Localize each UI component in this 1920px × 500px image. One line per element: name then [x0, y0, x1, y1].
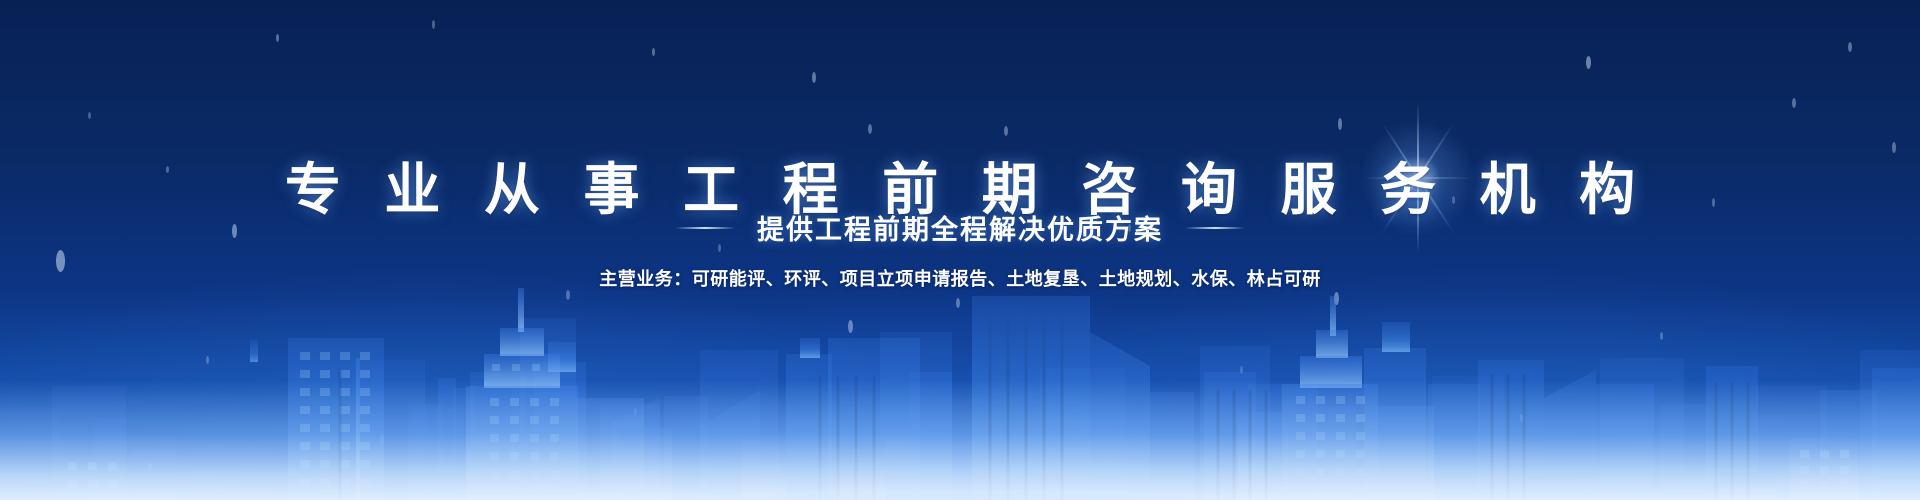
banner-content: 专 业 从 事 工 程 前 期 咨 询 服 务 机 构 提供工程前期全程解决优质…: [0, 0, 1920, 500]
promo-banner: 专 业 从 事 工 程 前 期 咨 询 服 务 机 构 提供工程前期全程解决优质…: [0, 0, 1920, 500]
services-line: 主营业务：可研能评、环评、项目立项申请报告、土地复垦、土地规划、水保、林占可研: [0, 265, 1920, 291]
dash-left-icon: [675, 227, 735, 229]
dash-right-icon: [1185, 227, 1245, 229]
page-subtitle: 提供工程前期全程解决优质方案: [757, 208, 1163, 247]
subtitle-row: 提供工程前期全程解决优质方案: [0, 208, 1920, 247]
